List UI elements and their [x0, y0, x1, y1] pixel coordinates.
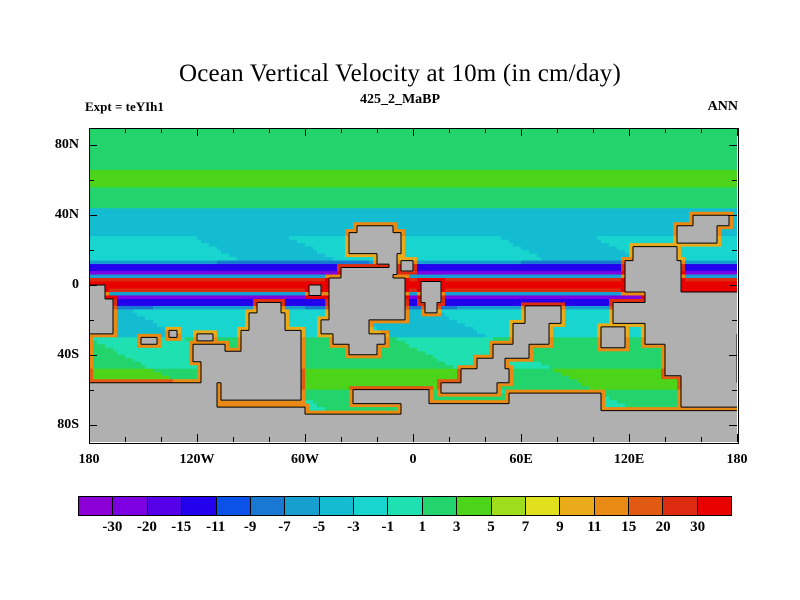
y-tick-major — [89, 425, 97, 426]
x-tick-minor — [125, 128, 126, 133]
y-tick-minor — [732, 250, 737, 251]
colorbar-tick-label: 3 — [453, 519, 461, 536]
page-title: Ocean Vertical Velocity at 10m (in cm/da… — [0, 60, 800, 88]
colorbar-cell — [181, 497, 215, 515]
x-tick-major — [521, 128, 522, 136]
x-tick-major — [521, 434, 522, 442]
x-tick-minor — [701, 128, 702, 133]
season-label: ANN — [708, 99, 738, 115]
colorbar-tick-label: -7 — [278, 519, 291, 536]
x-tick-major — [197, 434, 198, 442]
y-axis-label: 40S — [31, 347, 79, 363]
x-tick-minor — [377, 437, 378, 442]
colorbar-cell — [353, 497, 387, 515]
map-plot-area — [89, 128, 737, 442]
colorbar-cell — [594, 497, 628, 515]
colorbar — [78, 496, 732, 516]
x-axis-label: 0 — [410, 452, 417, 468]
colorbar-tick-label: 15 — [621, 519, 636, 536]
vertical-velocity-heatmap — [89, 128, 737, 442]
y-tick-minor — [732, 180, 737, 181]
x-axis-label: 60E — [509, 452, 532, 468]
y-tick-major — [729, 285, 737, 286]
x-tick-minor — [593, 128, 594, 133]
x-tick-major — [413, 434, 414, 442]
experiment-label: Expt = teYIh1 — [85, 99, 164, 115]
y-axis-label: 80S — [31, 417, 79, 433]
x-tick-major — [197, 128, 198, 136]
x-axis-label: 120W — [180, 452, 215, 468]
x-tick-minor — [125, 437, 126, 442]
colorbar-tick-label: 30 — [690, 519, 705, 536]
x-axis-label: 180 — [727, 452, 748, 468]
y-tick-minor — [89, 180, 94, 181]
y-tick-major — [89, 145, 97, 146]
x-tick-minor — [341, 128, 342, 133]
y-tick-major — [729, 215, 737, 216]
x-tick-minor — [449, 128, 450, 133]
y-tick-major — [729, 425, 737, 426]
x-tick-major — [89, 128, 90, 136]
colorbar-tick-label: 7 — [522, 519, 530, 536]
colorbar-cell — [250, 497, 284, 515]
colorbar-tick-label: -9 — [244, 519, 257, 536]
x-tick-major — [629, 128, 630, 136]
colorbar-tick-label: -15 — [171, 519, 191, 536]
x-tick-minor — [701, 437, 702, 442]
y-axis-label: 0 — [31, 277, 79, 293]
y-tick-major — [89, 285, 97, 286]
x-tick-minor — [593, 437, 594, 442]
y-tick-major — [729, 355, 737, 356]
x-tick-major — [737, 128, 738, 136]
x-tick-minor — [485, 128, 486, 133]
colorbar-cell — [662, 497, 696, 515]
colorbar-cell — [319, 497, 353, 515]
x-tick-minor — [269, 437, 270, 442]
x-tick-major — [413, 128, 414, 136]
colorbar-cell — [422, 497, 456, 515]
x-tick-major — [89, 434, 90, 442]
y-tick-major — [89, 215, 97, 216]
x-tick-minor — [161, 128, 162, 133]
colorbar-tick-label: -3 — [347, 519, 360, 536]
colorbar-tick-label: 5 — [487, 519, 495, 536]
x-axis-label: 120E — [614, 452, 644, 468]
x-tick-minor — [665, 437, 666, 442]
colorbar-tick-label: 11 — [587, 519, 601, 536]
x-tick-major — [305, 128, 306, 136]
colorbar-cell — [628, 497, 662, 515]
y-tick-major — [729, 145, 737, 146]
colorbar-tick-label: 20 — [656, 519, 671, 536]
colorbar-tick-label: -5 — [313, 519, 326, 536]
y-axis-label: 80N — [31, 137, 79, 153]
colorbar-cell — [147, 497, 181, 515]
colorbar-cell — [697, 497, 731, 515]
y-axis-label: 40N — [31, 207, 79, 223]
y-tick-minor — [732, 320, 737, 321]
colorbar-tick-label: -20 — [137, 519, 157, 536]
y-tick-minor — [89, 250, 94, 251]
colorbar-tick-label: -11 — [206, 519, 225, 536]
colorbar-tick-label: -1 — [382, 519, 395, 536]
colorbar-tick-label: -30 — [102, 519, 122, 536]
y-tick-major — [89, 355, 97, 356]
x-tick-minor — [233, 437, 234, 442]
x-tick-minor — [665, 128, 666, 133]
colorbar-cell — [491, 497, 525, 515]
colorbar-cell — [456, 497, 490, 515]
colorbar-cell — [387, 497, 421, 515]
x-tick-minor — [449, 437, 450, 442]
y-tick-minor — [732, 390, 737, 391]
x-axis-label: 180 — [79, 452, 100, 468]
x-tick-minor — [557, 437, 558, 442]
x-tick-major — [305, 434, 306, 442]
x-tick-major — [737, 434, 738, 442]
x-tick-minor — [233, 128, 234, 133]
x-axis-label: 60W — [291, 452, 319, 468]
x-tick-minor — [269, 128, 270, 133]
x-tick-minor — [377, 128, 378, 133]
colorbar-cell — [112, 497, 146, 515]
colorbar-cell — [216, 497, 250, 515]
x-tick-minor — [485, 437, 486, 442]
x-tick-major — [629, 434, 630, 442]
colorbar-cell — [559, 497, 593, 515]
y-tick-minor — [89, 320, 94, 321]
figure-canvas: Ocean Vertical Velocity at 10m (in cm/da… — [0, 0, 800, 600]
colorbar-cell — [525, 497, 559, 515]
x-tick-minor — [341, 437, 342, 442]
y-tick-minor — [89, 390, 94, 391]
x-tick-minor — [161, 437, 162, 442]
colorbar-tick-label: 1 — [418, 519, 426, 536]
colorbar-cell — [79, 497, 112, 515]
colorbar-cell — [284, 497, 318, 515]
x-tick-minor — [557, 128, 558, 133]
colorbar-tick-label: 9 — [556, 519, 564, 536]
